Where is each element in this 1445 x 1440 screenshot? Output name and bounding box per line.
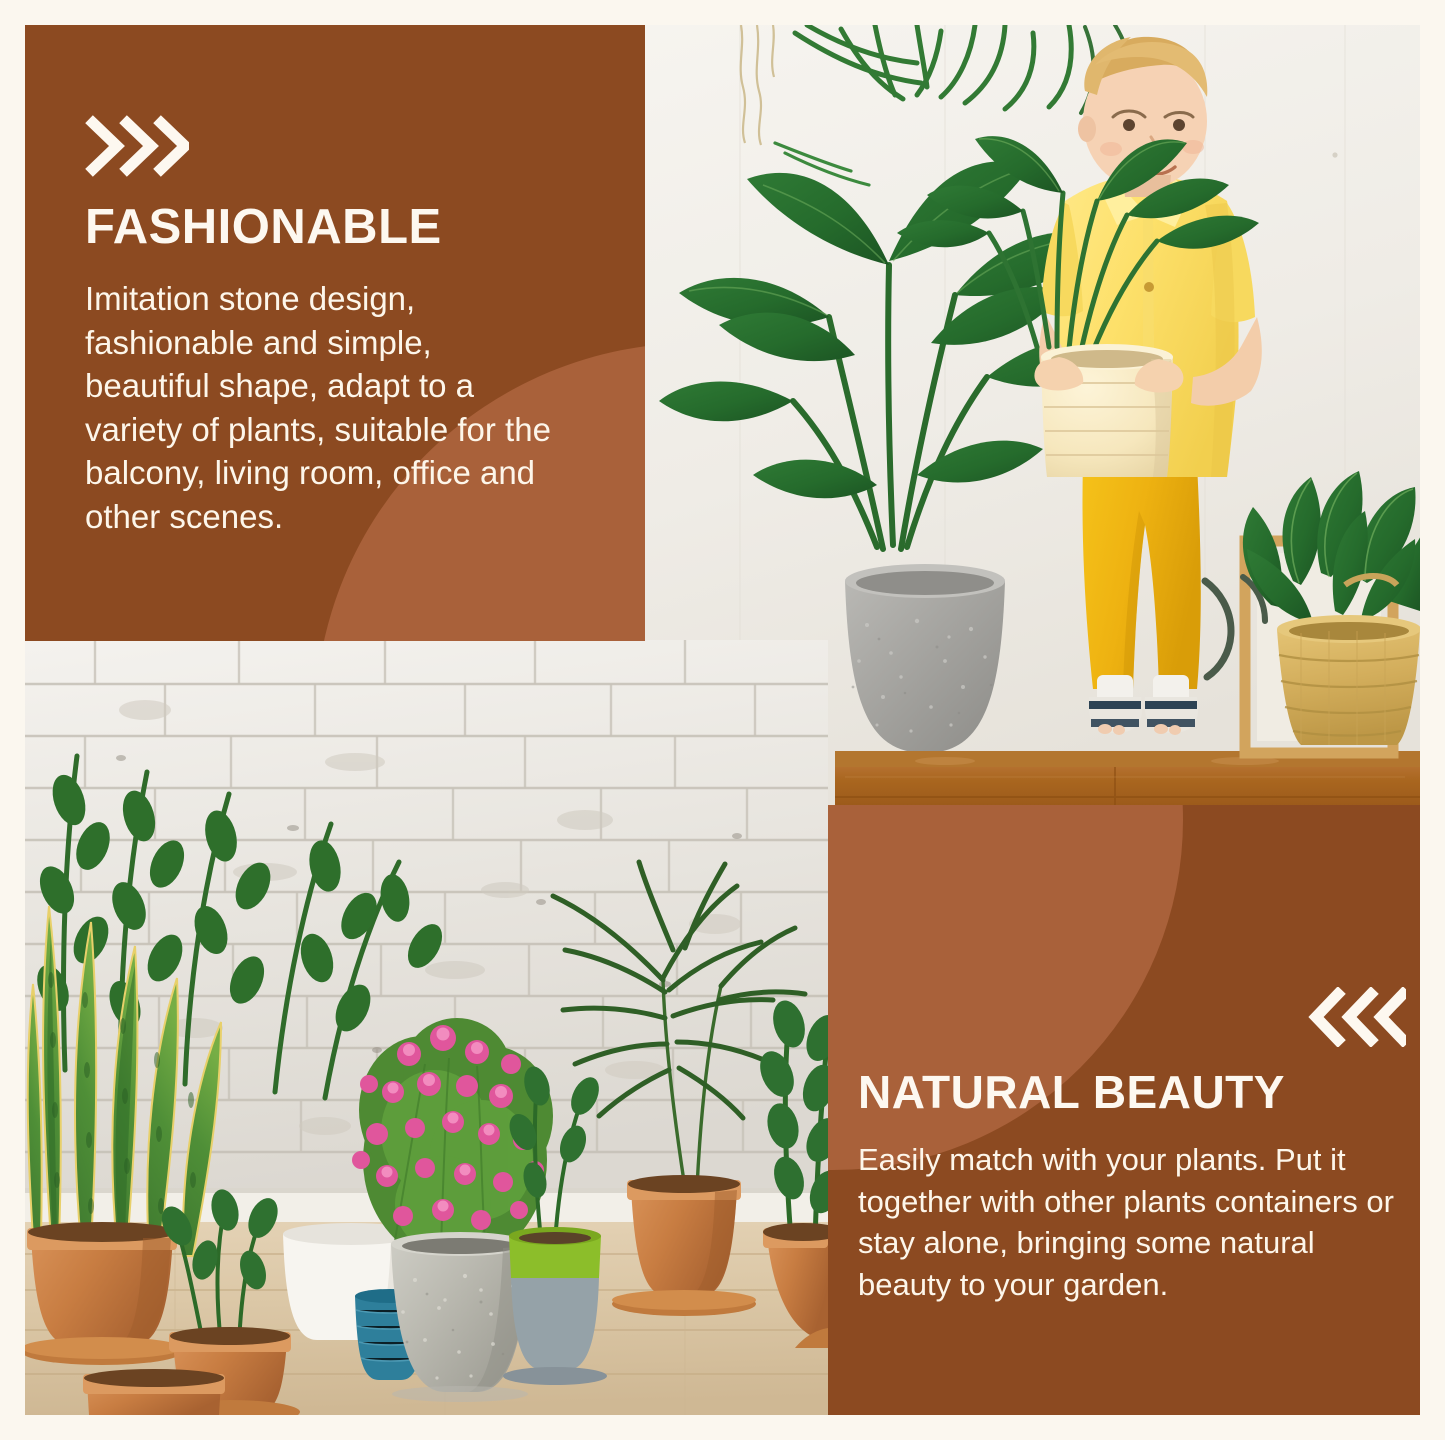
chevrons-right-icon xyxy=(85,115,605,177)
fashionable-feature-panel: FASHIONABLE Imitation stone design, fash… xyxy=(25,25,645,641)
fashionable-title: FASHIONABLE xyxy=(85,199,605,255)
natural-beauty-title: NATURAL BEAUTY xyxy=(858,1065,1406,1119)
white-brick-wall-plant-collection-photo xyxy=(25,640,828,1415)
infographic-canvas: FASHIONABLE Imitation stone design, fash… xyxy=(0,0,1445,1440)
natural-beauty-description: Easily match with your plants. Put it to… xyxy=(858,1139,1406,1305)
fashionable-description: Imitation stone design, fashionable and … xyxy=(85,277,565,538)
natural-beauty-feature-panel: NATURAL BEAUTY Easily match with your pl… xyxy=(828,805,1420,1415)
